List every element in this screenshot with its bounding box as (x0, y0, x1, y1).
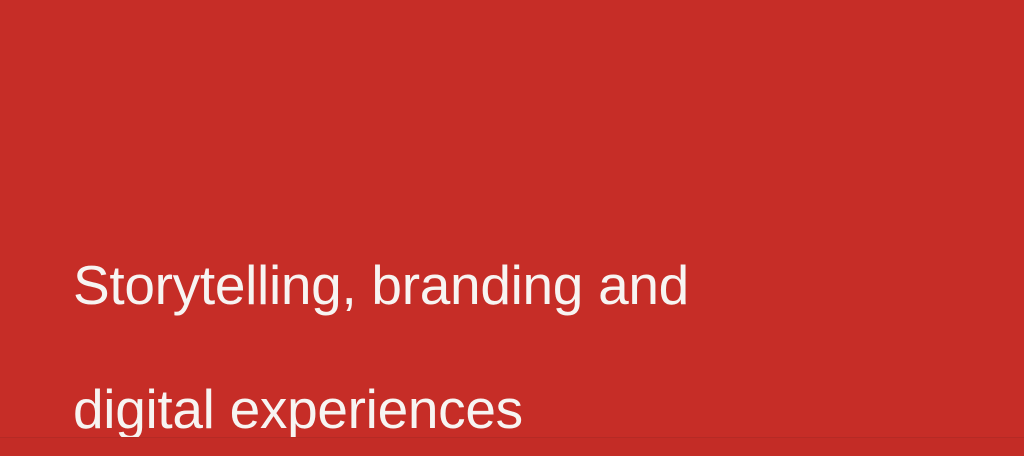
page-title: Storytelling, branding and digital exper… (73, 192, 903, 456)
slide-canvas: Storytelling, branding and digital exper… (0, 0, 1024, 456)
headline-line-2: digital experiences (73, 378, 903, 440)
headline-line-1: Storytelling, branding and (73, 254, 903, 316)
bottom-band (0, 438, 1024, 456)
